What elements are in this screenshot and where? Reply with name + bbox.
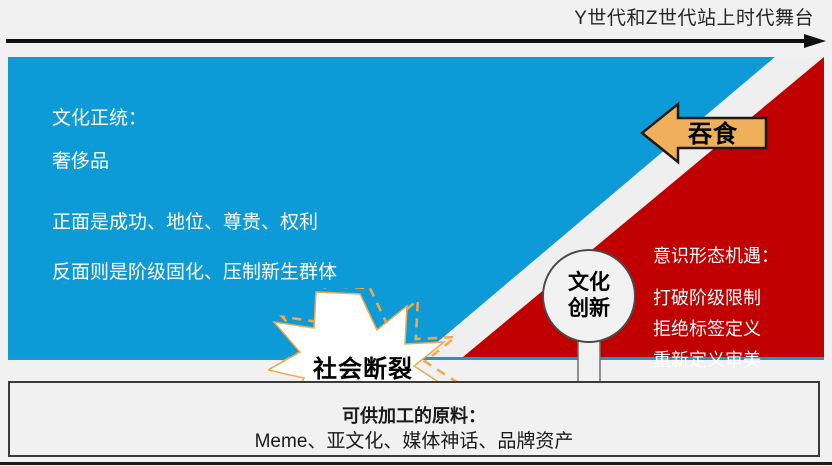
- devour-arrow-callout: 吞食: [640, 96, 768, 170]
- red-panel-item-1: 打破阶级限制: [653, 289, 779, 307]
- rupture-burst-label: 社会断裂: [268, 349, 458, 384]
- page-title: Y世代和Z世代站上时代舞台: [574, 3, 814, 30]
- red-panel-item-3: 重新定义审美: [653, 351, 779, 369]
- raw-material-body: Meme、亚文化、媒体神话、品牌资产: [8, 430, 820, 455]
- red-panel-text: 意识形态机遇： 打破阶级限制 拒绝标签定义 重新定义审美: [653, 247, 779, 382]
- red-panel-item-2: 拒绝标签定义: [653, 320, 779, 338]
- blue-line-1: 文化正统：: [52, 109, 452, 128]
- raw-material-text: 可供加工的原料： Meme、亚文化、媒体神话、品牌资产: [8, 393, 820, 454]
- raw-material-heading: 可供加工的原料：: [8, 405, 820, 428]
- blue-line-2: 奢侈品: [52, 152, 452, 171]
- blue-panel-text: 文化正统： 奢侈品 正面是成功、地位、尊贵、权利 反面则是阶级固化、压制新生群体: [52, 109, 452, 282]
- innovation-pin-label: 文化 创新: [538, 270, 640, 321]
- bottom-divider: [0, 462, 832, 465]
- devour-arrow-label: 吞食: [688, 114, 738, 149]
- innovation-pin-line-2: 创新: [538, 296, 640, 322]
- innovation-pin-line-1: 文化: [538, 270, 640, 296]
- blue-line-3: 正面是成功、地位、尊贵、权利: [52, 213, 452, 232]
- timeline-right-arrow-icon: [6, 33, 826, 49]
- red-panel-heading: 意识形态机遇：: [653, 247, 779, 265]
- blue-line-4: 反面则是阶级固化、压制新生群体: [52, 263, 452, 282]
- slide-canvas: Y世代和Z世代站上时代舞台 文化正统： 奢侈品 正面是成功、地位、尊贵、权利 反…: [0, 0, 832, 466]
- innovation-pin-callout: 文化 创新: [538, 248, 650, 388]
